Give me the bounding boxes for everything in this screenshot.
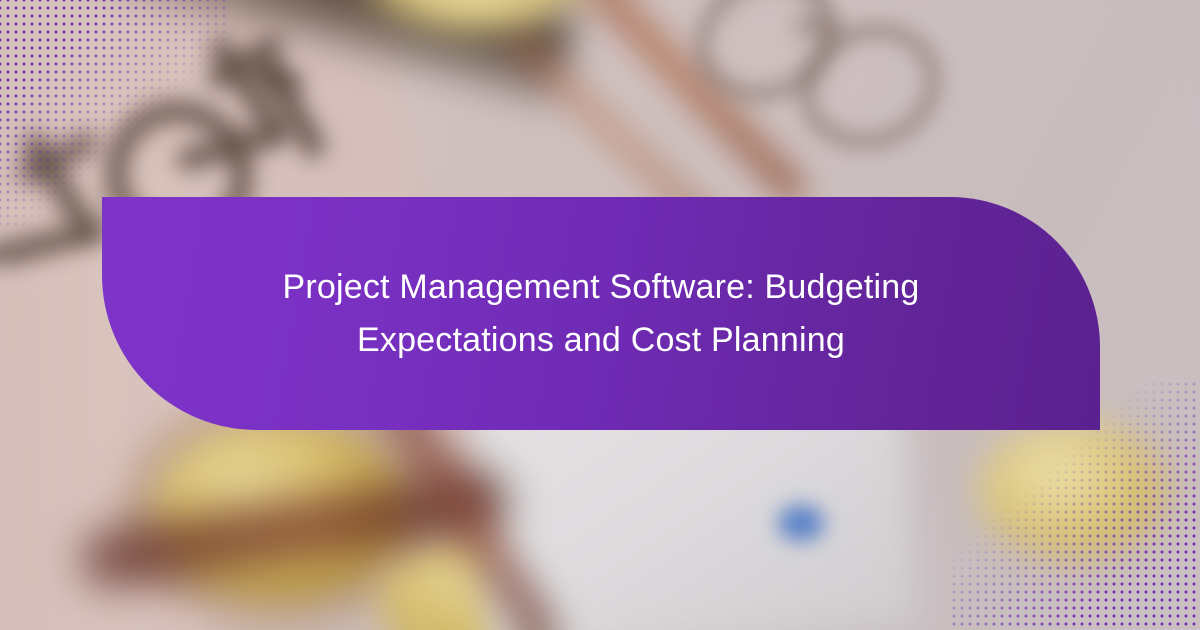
featured-image-card: Project Management Software: Budgeting E… [0, 0, 1200, 630]
page-title: Project Management Software: Budgeting E… [201, 261, 1001, 366]
title-banner: Project Management Software: Budgeting E… [102, 197, 1100, 430]
